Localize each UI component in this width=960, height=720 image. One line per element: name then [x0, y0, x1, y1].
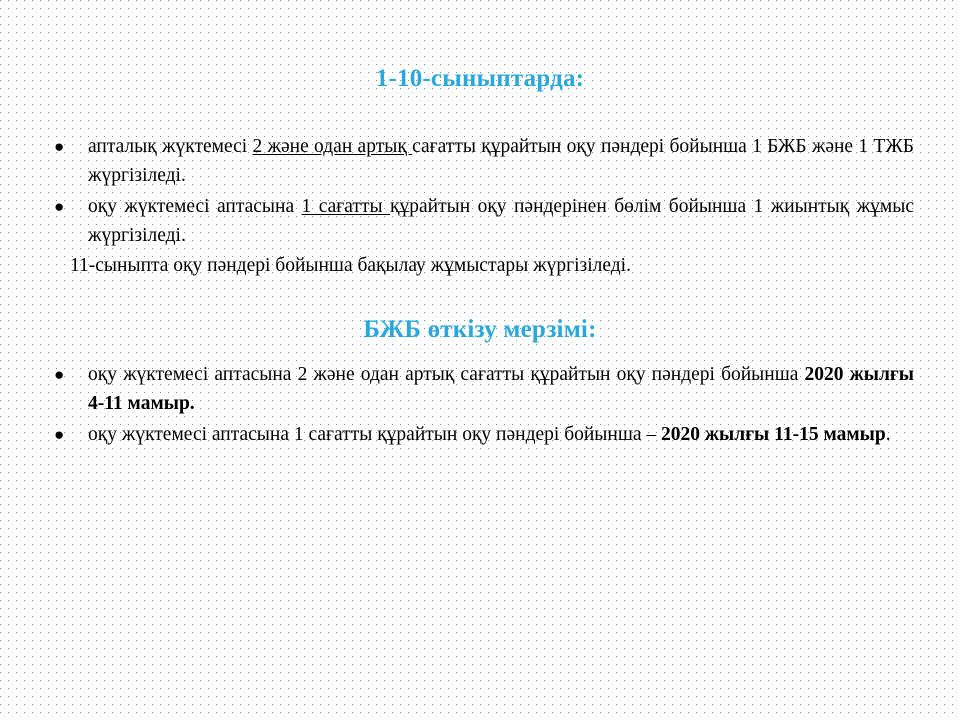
list-item: ● оқу жүктемесі аптасына 1 сағатты құрай… [48, 421, 914, 450]
bullet-icon: ● [54, 422, 64, 447]
section-1-note: 11-сыныпта оқу пәндері бойынша бақылау ж… [48, 252, 914, 281]
section-1-bullet-list: ● апталық жүктемесі 2 және одан артық са… [48, 133, 914, 250]
list-item: ● апталық жүктемесі 2 және одан артық са… [48, 133, 914, 191]
bullet-1-underlined-text: 2 және одан артық [253, 136, 413, 157]
section-2-body: ● оқу жүктемесі аптасына 2 және одан арт… [48, 361, 914, 452]
list-item-text: оқу жүктемесі аптасына 1 сағатты құрайты… [88, 421, 914, 450]
list-item-text: оқу жүктемесі аптасына 1 сағатты құрайты… [88, 193, 914, 251]
bullet-icon: ● [54, 362, 64, 387]
bullet-3-pre-text: оқу жүктемесі аптасына 2 және одан артық… [88, 364, 805, 385]
bullet-icon: ● [54, 194, 64, 219]
list-item: ● оқу жүктемесі аптасына 1 сағатты құрай… [48, 193, 914, 251]
list-item-text: оқу жүктемесі аптасына 2 және одан артық… [88, 361, 914, 419]
section-1-heading: 1-10-сыныптарда: [0, 65, 960, 93]
bullet-1-pre-text: апталық жүктемесі [88, 136, 253, 157]
section-1-heading-text: 1-10-сыныптарда: [376, 65, 584, 92]
section-1-body: ● апталық жүктемесі 2 және одан артық са… [48, 133, 914, 281]
bullet-icon: ● [54, 134, 64, 159]
list-item: ● оқу жүктемесі аптасына 2 және одан арт… [48, 361, 914, 419]
section-2-bullet-list: ● оқу жүктемесі аптасына 2 және одан арт… [48, 361, 914, 450]
bullet-4-bold-date: 2020 жылғы 11-15 мамыр [661, 424, 886, 445]
section-2-heading-text: БЖБ өткізу мерзімі: [363, 316, 596, 343]
slide-canvas: 1-10-сыныптарда: ● апталық жүктемесі 2 ж… [0, 0, 960, 720]
bullet-2-pre-text: оқу жүктемесі аптасына [88, 196, 302, 217]
bullet-4-pre-text: оқу жүктемесі аптасына 1 сағатты құрайты… [88, 424, 661, 445]
bullet-4-post-text: . [886, 424, 891, 445]
list-item-text: апталық жүктемесі 2 және одан артық саға… [88, 133, 914, 191]
section-2-heading: БЖБ өткізу мерзімі: [0, 316, 960, 344]
bullet-2-underlined-text: 1 сағатты [302, 196, 390, 217]
